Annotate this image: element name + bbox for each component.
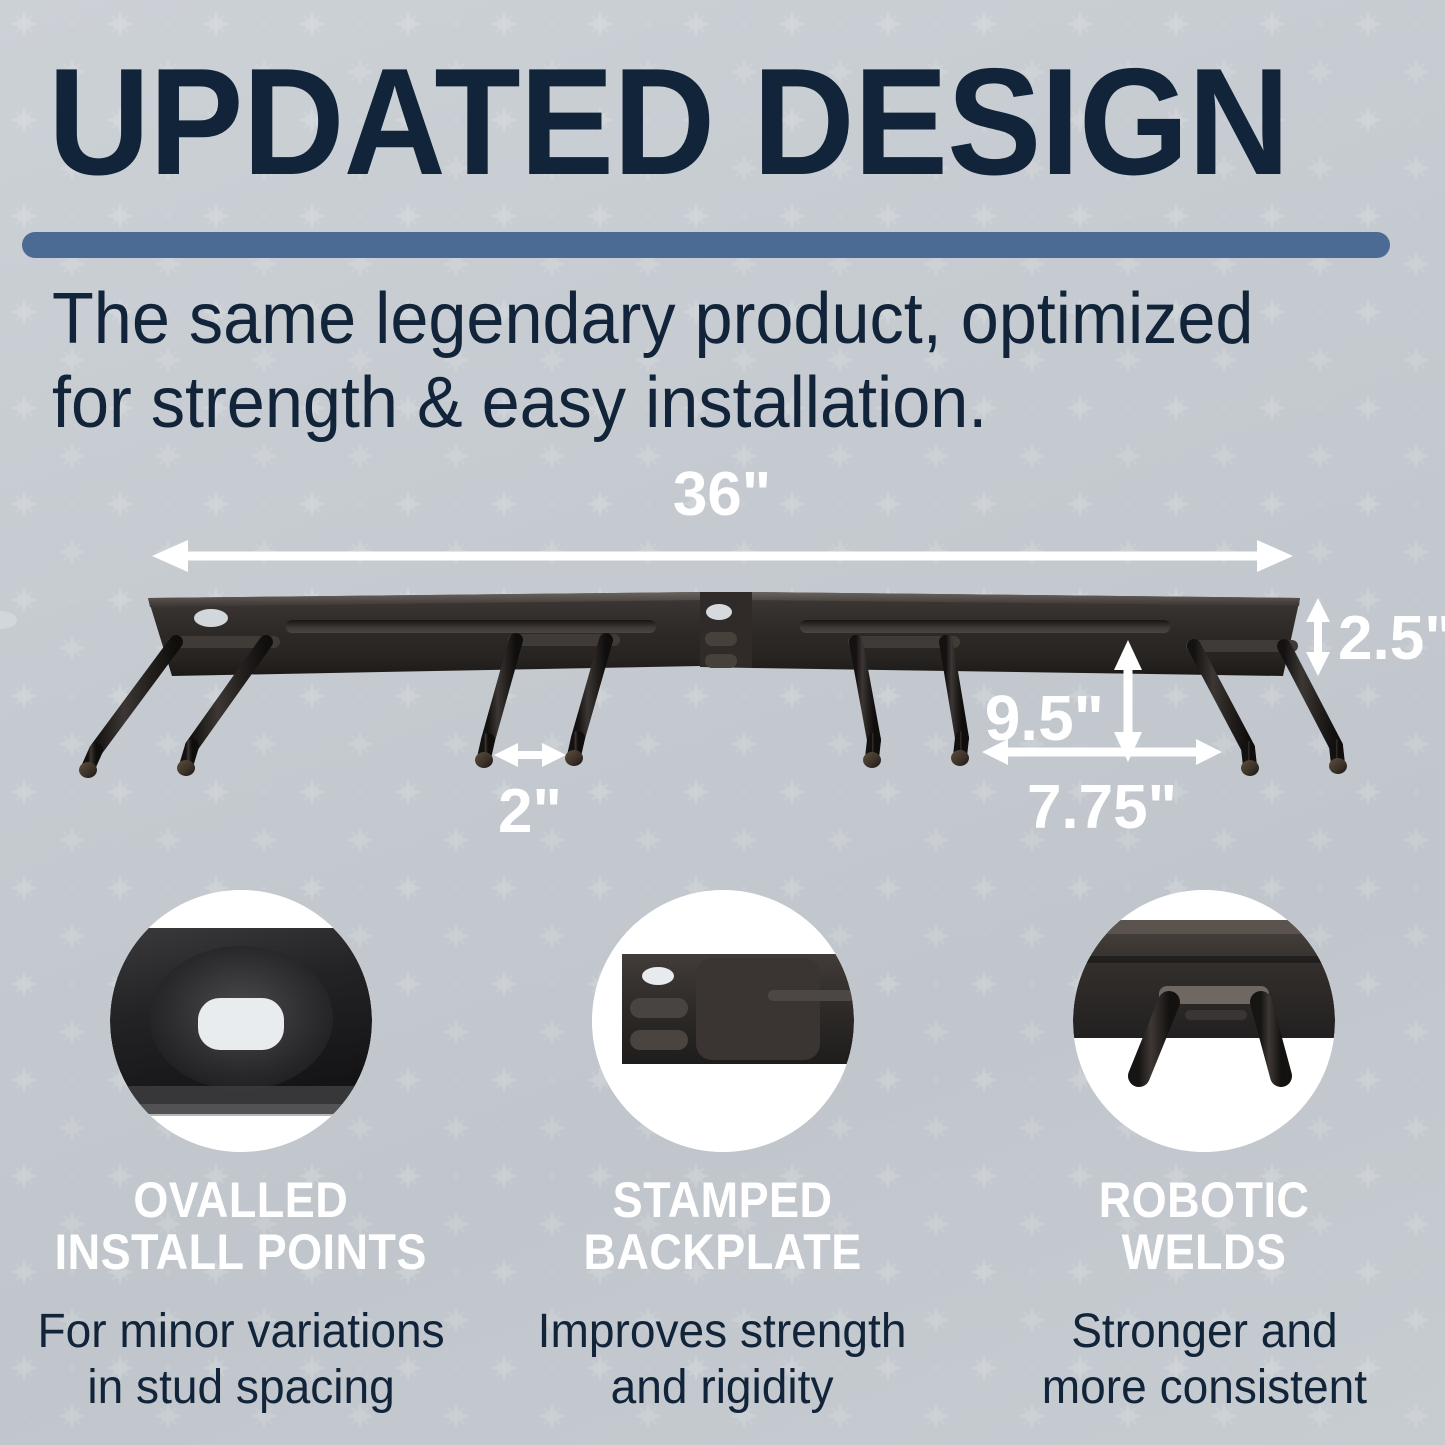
feature-title: STAMPED BACKPLATE <box>583 1174 861 1278</box>
dimension-label-overall-width: 36" <box>673 460 771 529</box>
feature-row: OVALLED INSTALL POINTS For minor variati… <box>0 890 1445 1415</box>
oval-install-hole-left <box>194 609 228 627</box>
feature-ovalled-install-points: OVALLED INSTALL POINTS For minor variati… <box>0 890 482 1415</box>
feature-desc-line-1: For minor variations <box>37 1304 444 1360</box>
stamped-backplate-icon <box>592 890 854 1152</box>
stamped-rib-right <box>800 620 1170 633</box>
center-slot-1 <box>705 632 737 646</box>
feature-title-line-2: WELDS <box>1099 1226 1310 1278</box>
oval-install-hole-center <box>706 604 732 620</box>
feature-title-line-1: ROBOTIC <box>1099 1174 1310 1226</box>
dimension-overall-width: 36" <box>152 460 1293 572</box>
feature-title: OVALLED INSTALL POINTS <box>55 1174 427 1278</box>
robotic-weld-icon <box>1073 890 1335 1152</box>
dimension-label-hook-pair-gap: 2" <box>498 777 562 846</box>
subtitle-line-2: for strength & easy installation. <box>52 362 1297 446</box>
feature-title-line-1: OVALLED <box>55 1174 427 1226</box>
subtitle: The same legendary product, optimized fo… <box>52 278 1297 445</box>
feature-desc-line-2: in stud spacing <box>37 1360 444 1416</box>
accent-divider-bar <box>22 232 1390 258</box>
feature-desc-line-2: more consistent <box>1042 1360 1367 1416</box>
dimension-label-backplate-height: 2.5" <box>1338 604 1445 673</box>
feature-title-line-2: INSTALL POINTS <box>55 1226 427 1278</box>
subtitle-line-1: The same legendary product, optimized <box>52 278 1297 362</box>
page-title: UPDATED DESIGN <box>48 48 1313 197</box>
feature-desc-line-1: Improves strength <box>538 1304 907 1360</box>
stamped-rib-left <box>286 620 656 633</box>
feature-robotic-welds: ROBOTIC WELDS Stronger and more consiste… <box>963 890 1445 1415</box>
dimension-label-hook-spacing: 7.75" <box>1027 773 1177 842</box>
feature-desc-line-2: and rigidity <box>538 1360 907 1416</box>
oval-install-hole-right <box>0 611 17 629</box>
product-diagram: 36" <box>0 440 1445 870</box>
feature-desc-line-1: Stronger and <box>1042 1304 1367 1360</box>
feature-title-line-1: STAMPED <box>583 1174 861 1226</box>
center-slot-2 <box>705 654 737 668</box>
center-stamped-section <box>700 592 752 668</box>
feature-stamped-backplate: STAMPED BACKPLATE Improves strength and … <box>482 890 964 1415</box>
oval-install-hole-icon <box>110 890 372 1152</box>
dimension-hook-spacing: 7.75" <box>982 739 1222 842</box>
feature-description: Improves strength and rigidity <box>538 1304 907 1415</box>
feature-description: Stronger and more consistent <box>1042 1304 1367 1415</box>
dimension-backplate-height: 2.5" <box>1306 598 1445 676</box>
feature-title: ROBOTIC WELDS <box>1099 1174 1310 1278</box>
infographic-canvas: UPDATED DESIGN The same legendary produc… <box>0 0 1445 1445</box>
backplate-left <box>148 592 700 676</box>
feature-title-line-2: BACKPLATE <box>583 1226 861 1278</box>
dimension-hook-pair-gap: 2" <box>494 743 566 846</box>
feature-description: For minor variations in stud spacing <box>37 1304 444 1415</box>
